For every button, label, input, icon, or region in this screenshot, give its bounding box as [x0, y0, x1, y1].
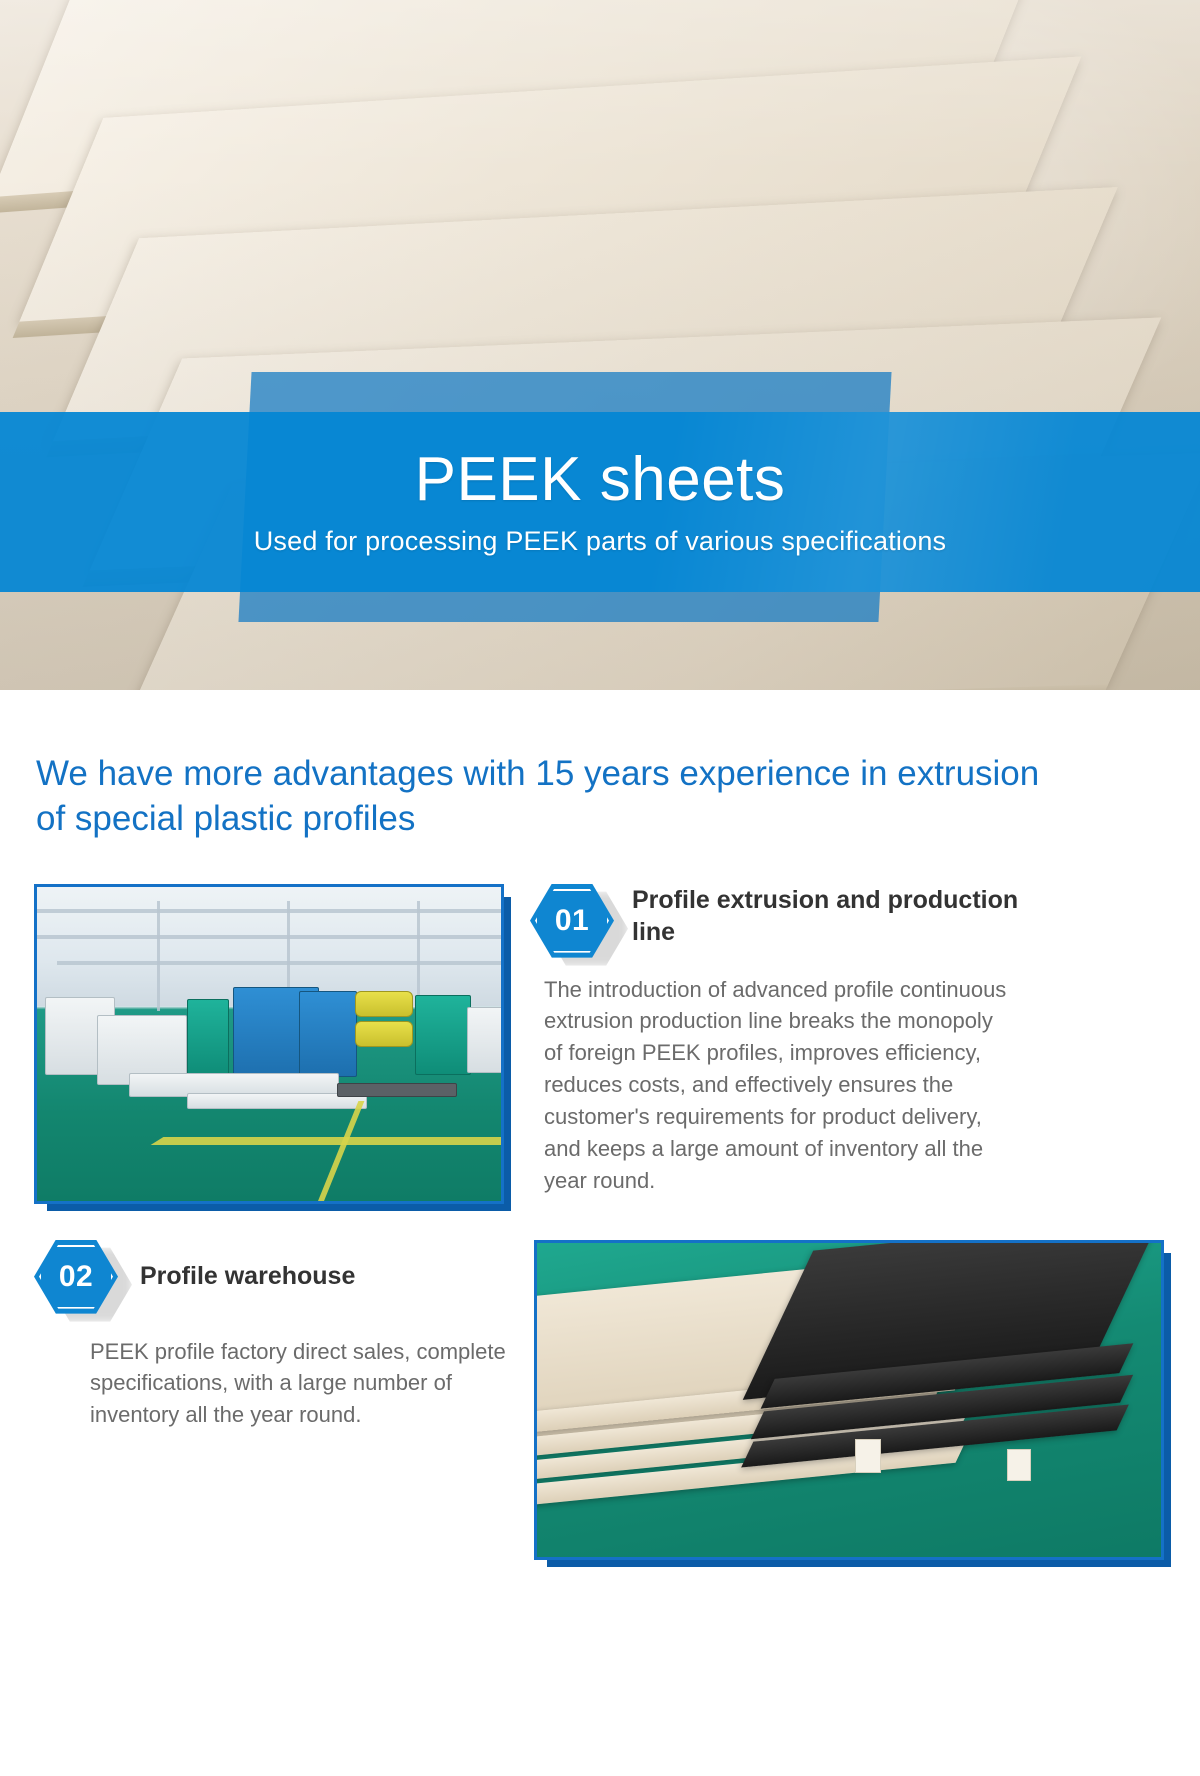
hero-subtitle: Used for processing PEEK parts of variou…: [254, 526, 947, 557]
sheet-label-tag: [855, 1439, 881, 1473]
section-headline: We have more advantages with 15 years ex…: [36, 752, 1066, 842]
feature-02-image-frame: [534, 1240, 1164, 1560]
feature-01-image-frame: [34, 884, 504, 1204]
hexagon-icon: 02: [34, 1240, 118, 1314]
peek-profile-warehouse-photo: [537, 1243, 1161, 1557]
features-section: 01 Profile extrusion and production line…: [0, 884, 1200, 1560]
feature-01-header: 01 Profile extrusion and production line: [530, 884, 1060, 958]
hero-banner: PEEK sheets Used for processing PEEK par…: [0, 0, 1200, 690]
feature-02-header: 02 Profile warehouse: [34, 1240, 534, 1314]
feature-01-number: 01: [555, 904, 589, 938]
hexagon-icon: 01: [530, 884, 614, 958]
feature-01-badge: 01: [530, 884, 614, 958]
hero-text-block: PEEK sheets Used for processing PEEK par…: [0, 412, 1200, 592]
feature-02-title: Profile warehouse: [140, 1260, 355, 1293]
feature-01-body: The introduction of advanced profile con…: [544, 974, 1014, 1197]
extrusion-production-line-photo: [37, 887, 501, 1201]
feature-02-number: 02: [59, 1260, 93, 1294]
sheet-label-tag: [1007, 1449, 1031, 1481]
feature-02-badge: 02: [34, 1240, 118, 1314]
feature-01-text-block: 01 Profile extrusion and production line…: [530, 884, 1060, 1197]
feature-02-text-block: 02 Profile warehouse PEEK profile factor…: [34, 1240, 534, 1432]
feature-item-01: 01 Profile extrusion and production line…: [0, 884, 1200, 1204]
feature-item-02: 02 Profile warehouse PEEK profile factor…: [0, 1240, 1200, 1560]
hero-title: PEEK sheets: [415, 447, 786, 512]
feature-01-title: Profile extrusion and production line: [632, 884, 1060, 949]
feature-02-body: PEEK profile factory direct sales, compl…: [90, 1336, 530, 1432]
